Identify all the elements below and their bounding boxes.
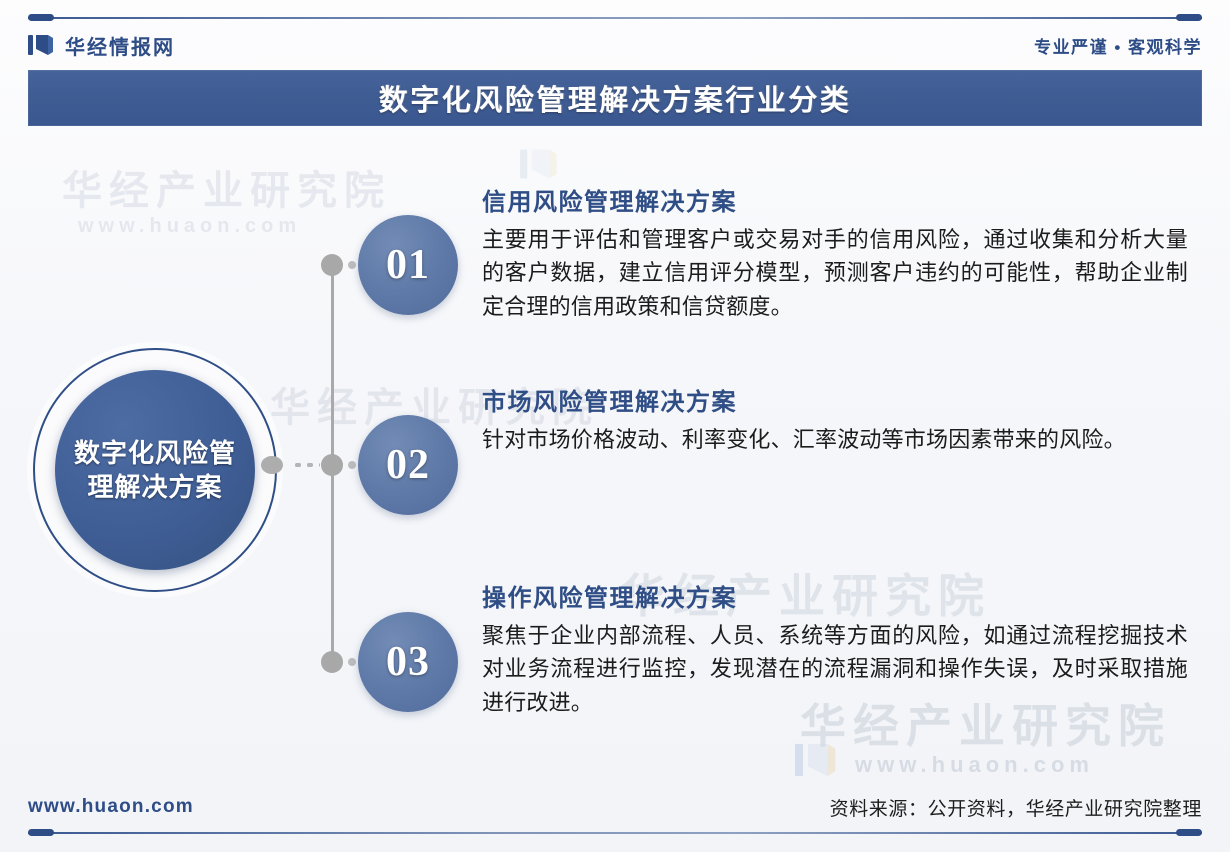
item-block-3: 操作风险管理解决方案 聚焦于企业内部流程、人员、系统等方面的风险，如通过流程挖掘… (482, 578, 1188, 719)
infographic-page: 华经情报网 专业严谨 • 客观科学 数字化风险管理解决方案行业分类 华经产业研究… (0, 0, 1230, 852)
top-rule-cap-right (1176, 14, 1202, 21)
step-number-1: 01 (386, 241, 430, 289)
step-circle-3[interactable]: 03 (358, 612, 458, 712)
page-title: 数字化风险管理解决方案行业分类 (379, 77, 852, 119)
item-block-1: 信用风险管理解决方案 主要用于评估和管理客户或交易对手的信用风险，通过收集和分析… (482, 182, 1188, 323)
bottom-rule-cap-right (1176, 829, 1202, 836)
watermark-book-logo-icon-2 (520, 148, 558, 180)
bottom-rule-bar (28, 832, 1202, 834)
step-circle-1[interactable]: 01 (358, 215, 458, 315)
hub-node: 数字化风险管理解决方案 (33, 348, 277, 592)
footer-site-url[interactable]: www.huaon.com (28, 796, 194, 818)
watermark-book-logo-icon (795, 742, 837, 778)
node-dot-2 (321, 454, 343, 476)
item-block-2: 市场风险管理解决方案 针对市场价格波动、利率变化、汇率波动等市场因素带来的风险。 (482, 382, 1188, 456)
masthead: 华经情报网 专业严谨 • 客观科学 (28, 26, 1202, 64)
hub-disc: 数字化风险管理解决方案 (55, 370, 255, 570)
bottom-rule-cap-left (28, 829, 54, 836)
book-logo-icon (28, 34, 54, 56)
brand-name: 华经情报网 (65, 31, 175, 60)
title-band: 数字化风险管理解决方案行业分类 (28, 70, 1202, 126)
watermark-cn-topleft: 华经产业研究院 (62, 158, 391, 216)
hub-connector-nub (261, 456, 283, 474)
node-dot-1 (321, 254, 343, 276)
watermark-en-bottomright: www.huaon.com (855, 752, 1094, 778)
footer: www.huaon.com 资料来源：公开资料，华经产业研究院整理 (28, 790, 1202, 824)
item-body-3: 聚焦于企业内部流程、人员、系统等方面的风险，如通过流程挖掘技术对业务流程进行监控… (482, 619, 1188, 719)
node-nub-1 (348, 261, 356, 269)
footer-source-note: 资料来源：公开资料，华经产业研究院整理 (830, 794, 1202, 821)
hub-label: 数字化风险管理解决方案 (70, 436, 240, 505)
bottom-divider-rule (28, 829, 1202, 836)
node-nub-3 (348, 658, 356, 666)
item-heading-3: 操作风险管理解决方案 (482, 578, 1188, 613)
item-heading-2: 市场风险管理解决方案 (482, 382, 1188, 417)
top-divider-rule (28, 14, 1202, 21)
step-number-2: 02 (386, 441, 430, 489)
hub-to-node2-dotted-line (292, 463, 320, 467)
top-rule-cap-left (28, 14, 54, 21)
node-dot-3 (321, 651, 343, 673)
watermark-en-topleft: www.huaon.com (78, 215, 301, 238)
item-body-1: 主要用于评估和管理客户或交易对手的信用风险，通过收集和分析大量的客户数据，建立信… (482, 223, 1188, 323)
node-nub-2 (348, 461, 356, 469)
brand-tagline: 专业严谨 • 客观科学 (1034, 33, 1202, 58)
brand: 华经情报网 (28, 31, 175, 60)
top-rule-bar (28, 17, 1202, 19)
step-circle-2[interactable]: 02 (358, 415, 458, 515)
item-heading-1: 信用风险管理解决方案 (482, 182, 1188, 217)
item-body-2: 针对市场价格波动、利率变化、汇率波动等市场因素带来的风险。 (482, 423, 1188, 456)
step-number-3: 03 (386, 638, 430, 686)
